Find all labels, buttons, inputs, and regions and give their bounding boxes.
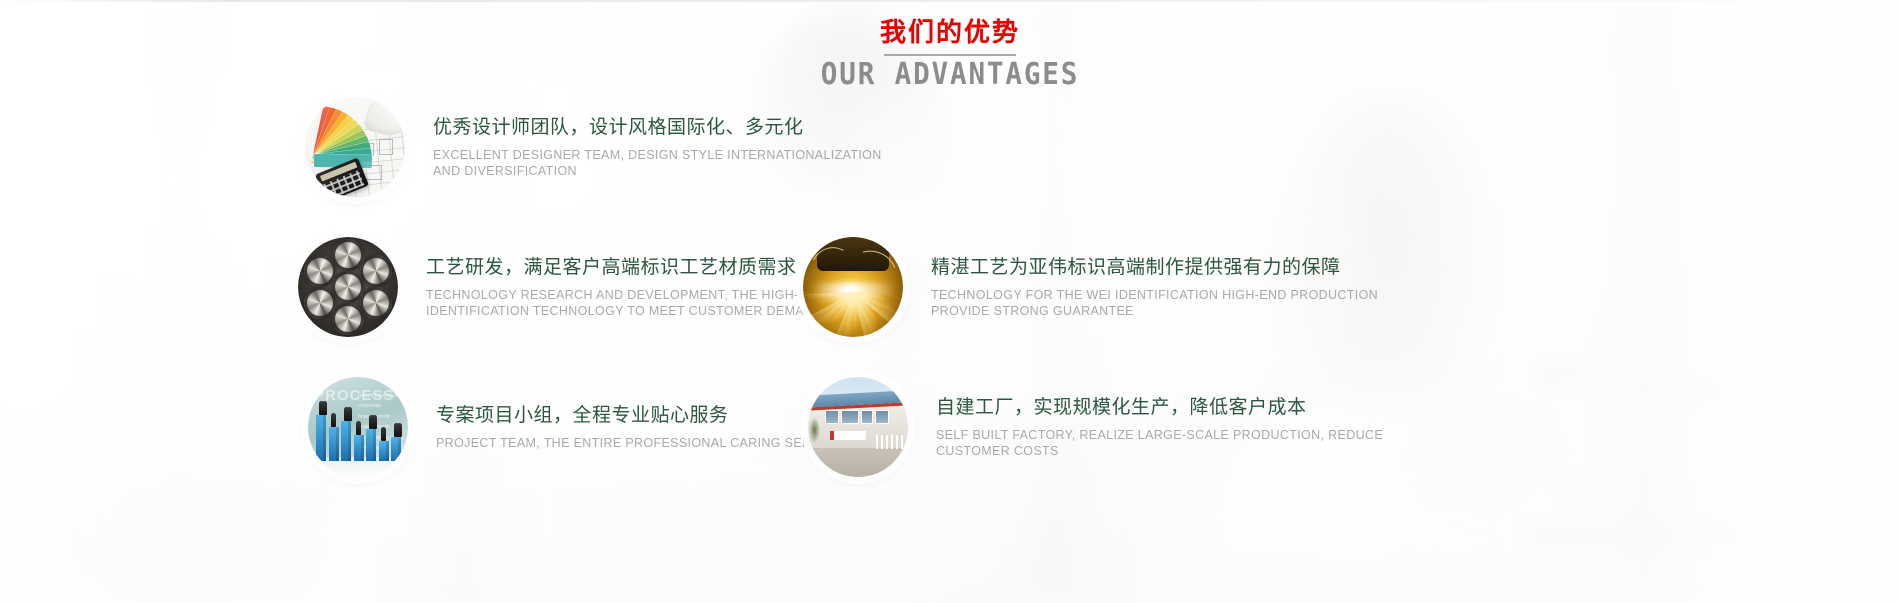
metal-tubes-photo bbox=[298, 237, 398, 337]
advantages-section: 我们的优势 OUR ADVANTAGES bbox=[0, 0, 1900, 603]
advantage-title-chinese: 自建工厂，实现规模化生产，降低客户成本 bbox=[936, 395, 1383, 421]
advantage-title-english: SELF BUILT FACTORY, REALIZE LARGE-SCALE … bbox=[936, 427, 1383, 459]
laser-cutting-sparks-photo bbox=[803, 237, 903, 337]
advantage-text: 自建工厂，实现规模化生产，降低客户成本 SELF BUILT FACTORY, … bbox=[936, 395, 1383, 459]
advantage-title-english: EXCELLENT DESIGNER TEAM, DESIGN STYLE IN… bbox=[433, 147, 882, 179]
advantage-title-english: TECHNOLOGY FOR THE WEI IDENTIFICATION HI… bbox=[931, 287, 1378, 319]
advantage-title-chinese: 专案项目小组，全程专业贴心服务 bbox=[436, 403, 850, 429]
advantage-item[interactable]: 自建工厂，实现规模化生产，降低客户成本 SELF BUILT FACTORY, … bbox=[808, 377, 1383, 477]
factory-building-photo bbox=[808, 377, 908, 477]
advantage-text: 专案项目小组，全程专业贴心服务 PROJECT TEAM, THE ENTIRE… bbox=[436, 403, 850, 451]
advantage-text: 精湛工艺为亚伟标识高端制作提供强有力的保障 TECHNOLOGY FOR THE… bbox=[931, 255, 1378, 319]
advantage-text: 优秀设计师团队，设计风格国际化、多元化 EXCELLENT DESIGNER T… bbox=[433, 115, 882, 179]
advantage-item[interactable]: 精湛工艺为亚伟标识高端制作提供强有力的保障 TECHNOLOGY FOR THE… bbox=[803, 237, 1378, 337]
business-bar-chart-photo: PROCESS record business corporate financ… bbox=[308, 377, 408, 477]
advantage-title-english: PROJECT TEAM, THE ENTIRE PROFESSIONAL CA… bbox=[436, 435, 850, 451]
advantage-title-chinese: 精湛工艺为亚伟标识高端制作提供强有力的保障 bbox=[931, 255, 1378, 281]
color-swatch-blueprint-photo bbox=[305, 97, 405, 197]
advantage-item[interactable]: PROCESS record business corporate financ… bbox=[308, 377, 850, 477]
advantage-title-chinese: 优秀设计师团队，设计风格国际化、多元化 bbox=[433, 115, 882, 141]
advantage-list: 优秀设计师团队，设计风格国际化、多元化 EXCELLENT DESIGNER T… bbox=[0, 0, 1900, 603]
advantage-item[interactable]: 优秀设计师团队，设计风格国际化、多元化 EXCELLENT DESIGNER T… bbox=[305, 97, 882, 197]
